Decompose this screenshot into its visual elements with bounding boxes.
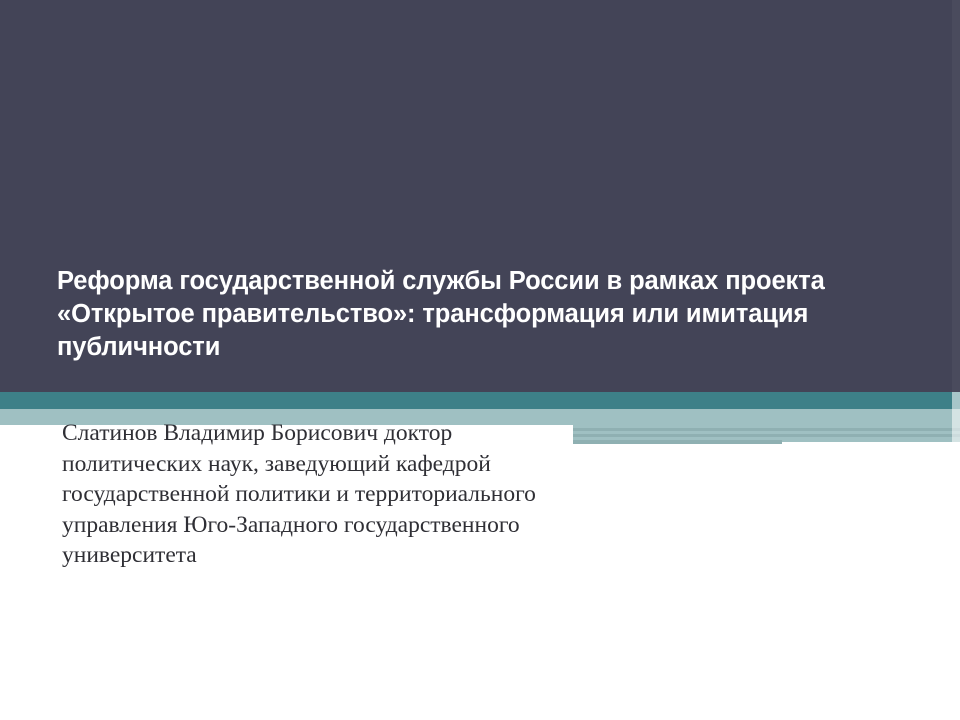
decorative-band-right-edge [952,392,960,444]
decorative-stripe-1 [573,428,782,431]
decorative-band-light-teal-right [573,409,960,442]
decorative-stripe-2-extension [782,434,960,437]
decorative-stripe-1-extension [782,428,960,431]
slide-subtitle-author: Слатинов Владимир Борисович доктор полит… [62,418,562,571]
decorative-stripe-2 [573,434,782,437]
presentation-slide: Реформа государственной службы России в … [0,0,960,720]
slide-header-right-edge [952,0,960,392]
decorative-stripe-3 [573,440,782,444]
slide-title: Реформа государственной службы России в … [57,265,887,364]
